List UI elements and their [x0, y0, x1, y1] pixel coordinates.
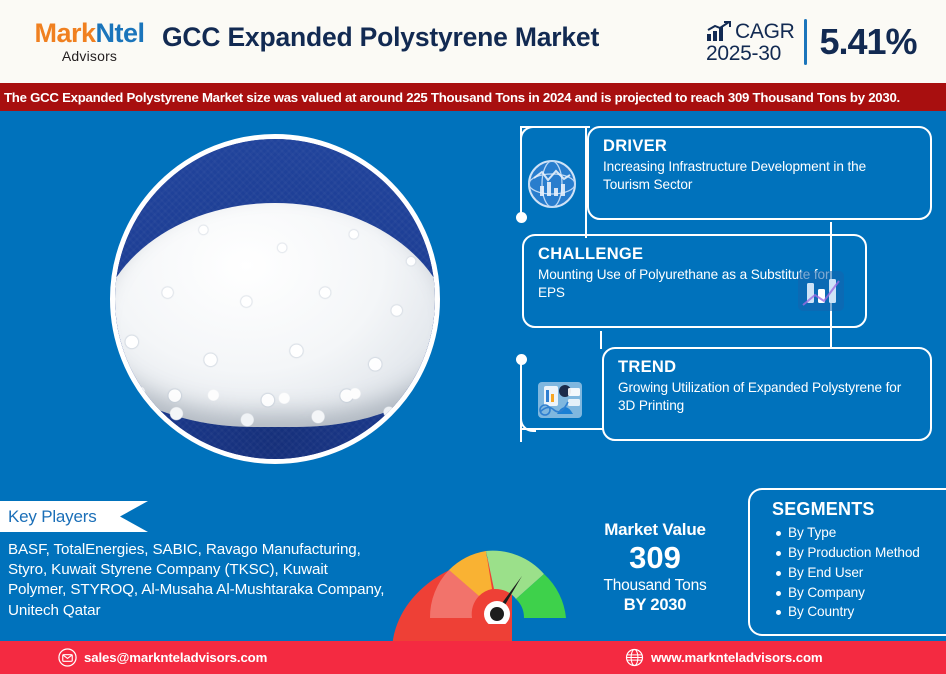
logo-wordmark-part2: Ntel: [96, 18, 145, 48]
connector-trend-top: [600, 331, 602, 349]
cagr-value: 5.41%: [819, 21, 916, 63]
cagr-years: 2025-30: [706, 43, 794, 64]
header-bar: MarkNtel Advisors GCC Expanded Polystyre…: [0, 0, 946, 83]
cagr-label-group: CAGR 2025-30: [706, 21, 794, 64]
speedometer-gauge-icon: [424, 532, 572, 624]
trend-card: TREND Growing Utilization of Expanded Po…: [602, 347, 932, 441]
market-value-year: BY 2030: [575, 596, 735, 615]
brand-logo: MarkNtel Advisors: [22, 20, 157, 63]
trend-text: Growing Utilization of Expanded Polystyr…: [618, 379, 916, 416]
cagr-word-row: CAGR: [706, 21, 794, 42]
connector-driver-corner: [520, 126, 536, 142]
logo-wordmark: MarkNtel: [22, 20, 157, 47]
driver-title: DRIVER: [603, 137, 916, 156]
challenge-title: CHALLENGE: [538, 245, 851, 264]
bar-chart-up-icon: [706, 21, 732, 42]
key-players-list: BASF, TotalEnergies, SABIC, Ravago Manuf…: [8, 540, 386, 621]
driver-card: DRIVER Increasing Infrastructure Develop…: [587, 126, 932, 220]
infographic-root: MarkNtel Advisors GCC Expanded Polystyre…: [0, 0, 946, 674]
connector-dot-driver: [516, 212, 527, 223]
segments-title: SEGMENTS: [772, 499, 946, 520]
connector-dot-trend: [516, 354, 527, 365]
logo-subtitle: Advisors: [22, 49, 157, 63]
market-value-unit: Thousand Tons: [575, 577, 735, 595]
footer-website[interactable]: www.marknteladvisors.com: [625, 648, 823, 667]
market-value-number: 309: [575, 541, 735, 575]
footer-website-text: www.marknteladvisors.com: [651, 650, 823, 665]
driver-text: Increasing Infrastructure Development in…: [603, 158, 916, 195]
list-item: By End User: [788, 563, 946, 583]
segments-list: By Type By Production Method By End User…: [772, 523, 946, 622]
market-value-label: Market Value: [575, 520, 735, 540]
product-image-scattered-beads: [121, 369, 428, 446]
list-item: By Type: [788, 523, 946, 543]
list-item: By Country: [788, 602, 946, 622]
product-image: [110, 134, 440, 464]
footer-email[interactable]: sales@marknteladvisors.com: [58, 648, 267, 667]
envelope-circle-icon: [58, 648, 77, 667]
market-value-block: Market Value 309 Thousand Tons BY 2030: [575, 520, 735, 615]
trend-title: TREND: [618, 358, 916, 377]
segments-card: SEGMENTS By Type By Production Method By…: [748, 488, 946, 636]
person-analytics-icon: [534, 374, 586, 426]
key-players-label: Key Players: [0, 507, 97, 527]
globe-infrastructure-icon: [526, 158, 578, 210]
list-item: By Production Method: [788, 543, 946, 563]
list-item: By Company: [788, 583, 946, 603]
market-summary-banner: The GCC Expanded Polystyrene Market size…: [0, 83, 946, 111]
logo-wordmark-part1: Mark: [34, 18, 95, 48]
bar-chart-icon: [795, 265, 847, 317]
footer-bar: sales@marknteladvisors.com www.markntela…: [0, 641, 946, 674]
cagr-word: CAGR: [735, 21, 794, 42]
page-title: GCC Expanded Polystyrene Market: [162, 22, 702, 52]
footer-email-text: sales@marknteladvisors.com: [84, 650, 267, 665]
cagr-block: CAGR 2025-30 5.41%: [706, 16, 917, 68]
globe-circle-icon: [625, 648, 644, 667]
cagr-divider: [804, 19, 807, 65]
